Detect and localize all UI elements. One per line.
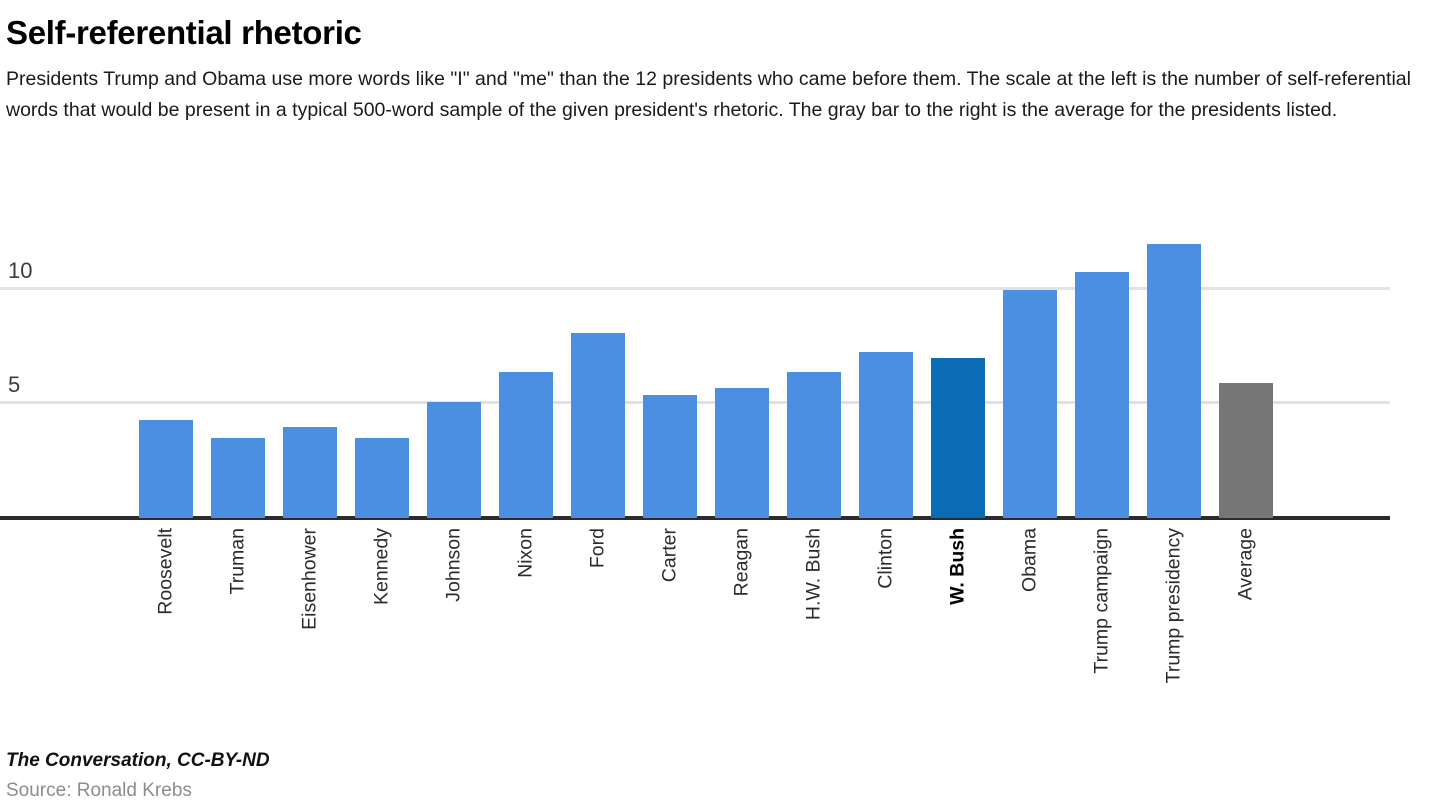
x-axis-label-text: Trump campaign <box>1092 528 1112 674</box>
bar-trump-presidency[interactable] <box>1147 244 1201 518</box>
bar-johnson[interactable] <box>427 402 481 518</box>
bar-truman[interactable] <box>211 438 265 518</box>
x-axis-label-text: Eisenhower <box>300 528 320 630</box>
bar-roosevelt[interactable] <box>139 420 193 518</box>
bar-w-bush[interactable] <box>931 358 985 518</box>
x-axis-label-text: Carter <box>660 528 680 582</box>
x-axis-label-text: H.W. Bush <box>804 528 824 620</box>
bar-nixon[interactable] <box>499 372 553 518</box>
bar-h-w-bush[interactable] <box>787 372 841 518</box>
x-axis-label-text: Trump presidency <box>1164 528 1184 683</box>
bar-ford[interactable] <box>571 333 625 518</box>
bar-trump-campaign[interactable] <box>1075 272 1129 518</box>
chart-page: Self-referential rhetoric Presidents Tru… <box>0 0 1432 812</box>
x-axis-label-text: Truman <box>228 528 248 594</box>
x-axis-label-text: Roosevelt <box>156 528 176 615</box>
chart-footer: The Conversation, CC-BY-ND Source: Ronal… <box>6 746 270 806</box>
bar-average[interactable] <box>1219 383 1273 518</box>
x-axis-label-text: Clinton <box>876 528 896 589</box>
x-axis-label-text: Johnson <box>444 528 464 602</box>
bars-layer <box>0 0 1390 518</box>
x-axis-label-text: Reagan <box>732 528 752 596</box>
bar-eisenhower[interactable] <box>283 427 337 518</box>
x-axis-label-text: Obama <box>1020 528 1040 592</box>
bar-carter[interactable] <box>643 395 697 518</box>
x-axis-label-text: Average <box>1236 528 1256 600</box>
bar-kennedy[interactable] <box>355 438 409 518</box>
bar-reagan[interactable] <box>715 388 769 518</box>
bar-obama[interactable] <box>1003 290 1057 518</box>
x-axis-label-text: Nixon <box>516 528 536 578</box>
source-line: Source: Ronald Krebs <box>6 776 270 806</box>
bar-clinton[interactable] <box>859 352 913 518</box>
x-axis-label-text: Ford <box>588 528 608 568</box>
x-axis-label-text: Kennedy <box>372 528 392 605</box>
credit-line: The Conversation, CC-BY-ND <box>6 746 270 776</box>
x-axis-label-text: W. Bush <box>948 528 968 605</box>
chart-plot-area: 510 RooseveltTrumanEisenhowerKennedyJohn… <box>0 0 1432 812</box>
